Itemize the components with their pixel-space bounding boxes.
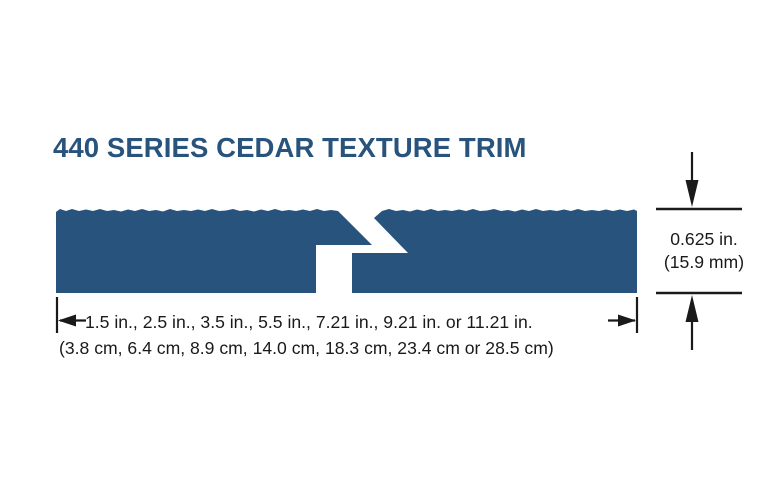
thickness-imperial-value: 0.625 in.	[648, 228, 760, 251]
width-dimension-metric-label: (3.8 cm, 6.4 cm, 8.9 cm, 14.0 cm, 18.3 c…	[59, 338, 554, 360]
thickness-arrowhead-bottom	[686, 295, 699, 322]
width-dimension-imperial-label: 1.5 in., 2.5 in., 3.5 in., 5.5 in., 7.21…	[85, 312, 533, 334]
thickness-arrowhead-top	[686, 180, 699, 207]
board-left-segment	[56, 209, 372, 293]
thickness-metric-value: (15.9 mm)	[648, 251, 760, 274]
product-diagram: 440 SERIES CEDAR TEXTURE TRIM 1.5 in., 2…	[0, 0, 762, 500]
thickness-dimension-label: 0.625 in. (15.9 mm)	[648, 228, 760, 273]
width-arrowhead-left	[58, 315, 76, 327]
width-arrowhead-right	[618, 315, 636, 327]
board-right-segment	[352, 209, 637, 293]
